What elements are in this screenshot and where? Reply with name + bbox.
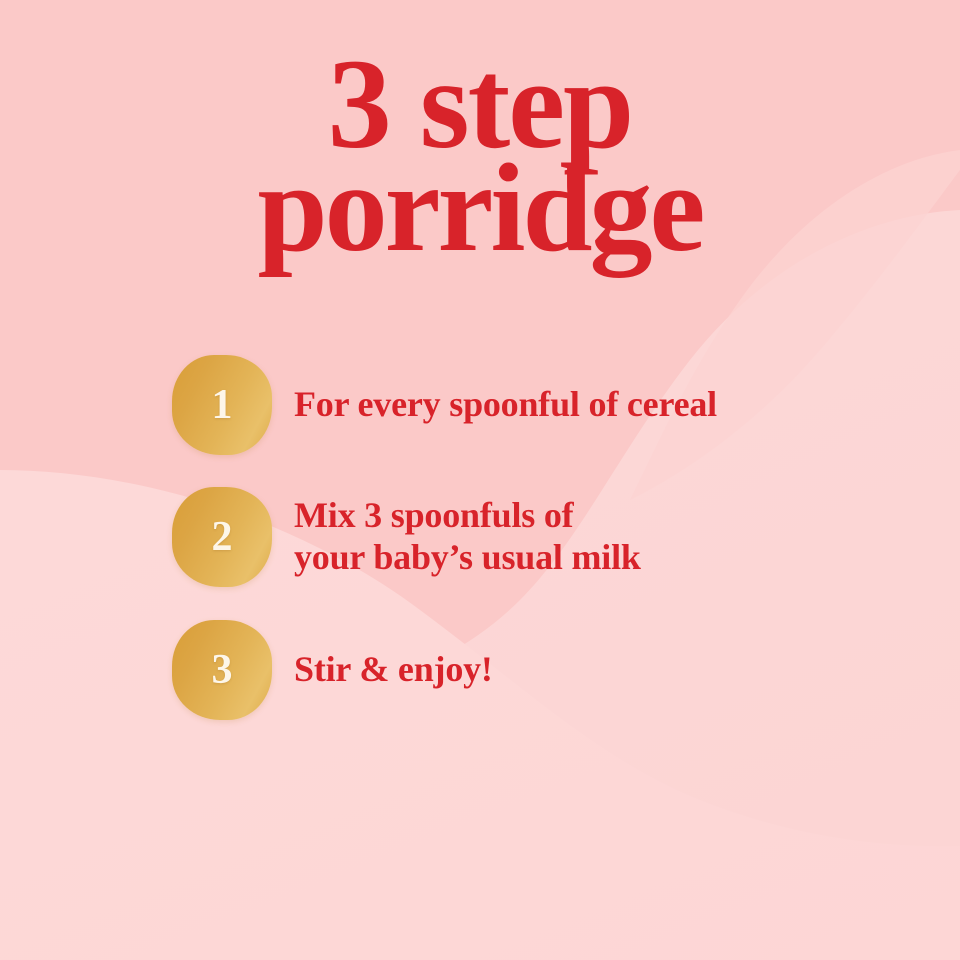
step-text-1: For every spoonful of cereal [294,384,717,426]
step-number-2: 2 [212,516,233,558]
step-item-2: 2 Mix 3 spoonfuls of your baby’s usual m… [172,487,912,587]
title-line-2: porridge [0,157,960,260]
step-number-1: 1 [212,384,233,426]
step-item-3: 3 Stir & enjoy! [172,620,912,720]
step-item-1: 1 For every spoonful of cereal [172,355,912,455]
step-badge-3: 3 [172,620,272,720]
step-badge-1: 1 [172,355,272,455]
page-title: 3 step porridge [0,52,960,260]
step-badge-2: 2 [172,487,272,587]
step-text-3: Stir & enjoy! [294,649,493,691]
step-number-3: 3 [212,649,233,691]
porridge-instruction-poster: 3 step porridge 1 For every spoonful of … [0,0,960,960]
step-text-2: Mix 3 spoonfuls of your baby’s usual mil… [294,495,641,579]
